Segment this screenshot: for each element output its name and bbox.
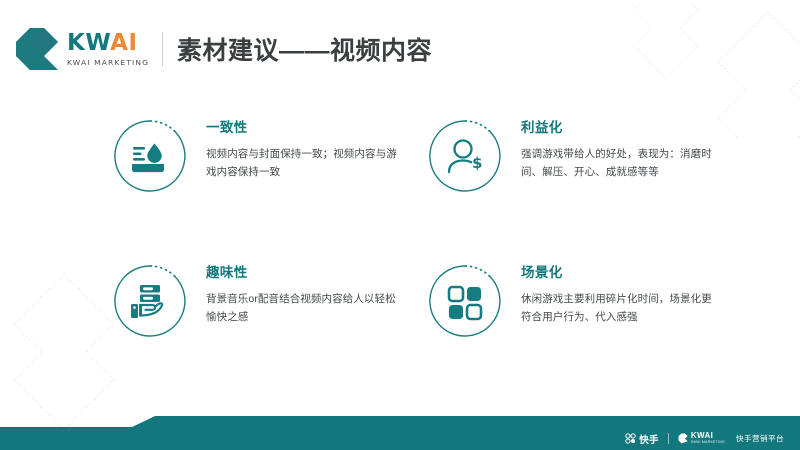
- kwai-wordmark: KWAI KWAI MARKETING: [67, 32, 148, 67]
- feature-icon-circle: [112, 118, 188, 194]
- platform-label: 快手营销平台: [736, 433, 784, 444]
- feature-title: 趣味性: [206, 261, 402, 281]
- feature-description: 背景音乐or配音结合视频内容给人以轻松愉快之感: [206, 290, 402, 326]
- kuaishou-label: 快手: [639, 432, 659, 446]
- feature-title: 场景化: [521, 261, 717, 281]
- feature-text: 利益化 强调游戏带给人的好处，表现为：消磨时间、解压、开心、成就感等等: [521, 108, 717, 181]
- feature-icon-circle: $: [427, 118, 503, 194]
- kuaishou-logo-icon: [625, 433, 636, 444]
- feature-card-scenario: 场景化 休闲游戏主要利用碎片化时间，场景化更符合用户行为、代入感强: [427, 253, 730, 398]
- feature-title: 一致性: [206, 116, 402, 136]
- kwai-tagline: KWAI MARKETING: [67, 58, 149, 67]
- footer-accent-shape: [0, 415, 800, 427]
- footer-branding: 快手 KWAI KWAI MARKETING 快手营销平台: [625, 427, 784, 450]
- feature-title: 利益化: [521, 116, 717, 136]
- feature-card-fun: 趣味性 背景音乐or配音结合视频内容给人以轻松愉快之感: [112, 253, 415, 398]
- footer-separator: [668, 433, 669, 444]
- feature-grid: 一致性 视频内容与封面保持一致；视频内容与游戏内容保持一致 $ 利益化 强调游戏…: [0, 108, 800, 398]
- chevron-outline-small-icon: [610, 2, 700, 82]
- feature-icon-circle: [112, 263, 188, 339]
- feature-text: 一致性 视频内容与封面保持一致；视频内容与游戏内容保持一致: [206, 108, 402, 181]
- feature-text: 趣味性 背景音乐or配音结合视频内容给人以轻松愉快之感: [206, 253, 402, 326]
- kwai-footer-tagline: KWAI MARKETING: [691, 441, 725, 445]
- page-header: KWAI KWAI MARKETING 素材建议——视频内容: [14, 22, 432, 76]
- kwai-chevron-logo: [678, 433, 688, 444]
- four-squares-icon: [449, 287, 481, 319]
- kwai-footer-label: KWAI: [691, 432, 725, 440]
- page-title: 素材建议——视频内容: [177, 31, 432, 67]
- feature-text: 场景化 休闲游戏主要利用碎片化时间，场景化更符合用户行为、代入感强: [521, 253, 717, 326]
- kwai-wordmark-letters: KWAI: [67, 32, 148, 55]
- person-dollar-icon: [449, 141, 472, 173]
- feature-card-consistency: 一致性 视频内容与封面保持一致；视频内容与游戏内容保持一致: [112, 108, 415, 253]
- kwai-footer-wordmark: KWAI KWAI MARKETING: [691, 432, 725, 445]
- feature-icon-circle: [427, 263, 503, 339]
- water-drop-tray-icon: [132, 144, 164, 173]
- kuaishou-brand: 快手: [625, 432, 659, 446]
- feature-description: 休闲游戏主要利用碎片化时间，场景化更符合用户行为、代入感强: [521, 290, 717, 326]
- dollar-sign-icon: $: [472, 154, 482, 172]
- decoration-top-right-small: [610, 2, 700, 82]
- kwai-chevron-logo: [14, 26, 60, 72]
- feature-card-benefit: $ 利益化 强调游戏带给人的好处，表现为：消磨时间、解压、开心、成就感等等: [427, 108, 730, 253]
- feature-description: 强调游戏带给人的好处，表现为：消磨时间、解压、开心、成就感等等: [521, 145, 717, 181]
- header-divider: [162, 32, 164, 66]
- feature-description: 视频内容与封面保持一致；视频内容与游戏内容保持一致: [206, 145, 402, 181]
- hand-cards-icon: [131, 285, 162, 318]
- kwai-brand: KWAI KWAI MARKETING: [678, 432, 725, 445]
